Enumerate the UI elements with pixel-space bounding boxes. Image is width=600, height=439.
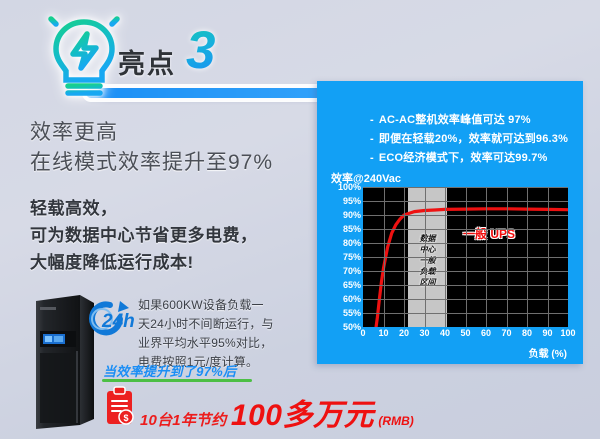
x-tick-label: 60 [481, 328, 491, 338]
efficiency-gain-caption: 当效率提升到了97%后 [103, 361, 236, 380]
x-tick-label: 10 [378, 328, 388, 338]
y-tick-label: 65% [343, 280, 361, 290]
grid-line-horizontal [363, 187, 568, 188]
chart-x-axis-title: 负载 (%) [529, 345, 567, 360]
highlight-number: 3 [186, 24, 215, 77]
savings-amount: 100多万元 [231, 399, 374, 432]
body-copy: 轻载高效， 可为数据中心节省更多电费， 大幅度降低运行成本! [30, 195, 320, 276]
chart-y-tick-labels: 50%55%60%65%70%75%80%85%90%95%100% [331, 187, 361, 327]
x-tick-label: 30 [419, 328, 429, 338]
caption-underline [102, 379, 252, 382]
y-tick-label: 55% [343, 308, 361, 318]
x-tick-label: 90 [542, 328, 552, 338]
x-tick-label: 40 [440, 328, 450, 338]
lead-line-1: 效率更高 [30, 118, 310, 148]
note-line: 如果600KW设备负载一 [138, 296, 313, 315]
bullet-item: AC-AC整机效率峰值可达 97% [370, 111, 600, 130]
poster-canvas: 亮点 3 效率更高 在线模式效率提升至97% 轻载高效， 可为数据中心节省更多电… [0, 0, 600, 439]
y-tick-label: 85% [343, 224, 361, 234]
body-copy-line: 可为数据中心节省更多电费， [30, 222, 320, 249]
savings-currency: (RMB) [378, 414, 413, 428]
y-tick-label: 60% [343, 294, 361, 304]
grid-line-horizontal [363, 201, 568, 202]
highlight-label: 亮点 [118, 42, 176, 81]
y-tick-label: 80% [343, 238, 361, 248]
24h-clock-icon: 24h [80, 297, 136, 341]
grid-line-horizontal [363, 299, 568, 300]
bullet-item: 即便在轻载20%，效率就可达到96.3% [370, 130, 600, 149]
efficiency-chart: 50%55%60%65%70%75%80%85%90%95%100% 数据中心一… [331, 187, 571, 335]
body-copy-line: 大幅度降低运行成本! [30, 249, 320, 276]
savings-prefix: 10台1年节约 [140, 412, 226, 429]
savings-statement: 10台1年节约 100多万元 (RMB) [140, 390, 414, 434]
y-tick-label: 90% [343, 210, 361, 220]
chart-x-tick-labels: 0102030405060708090100 [363, 328, 568, 342]
y-tick-label: 75% [343, 252, 361, 262]
bullet-list: AC-AC整机效率峰值可达 97% 即便在轻载20%，效率就可达到96.3% E… [330, 111, 600, 168]
grid-line-horizontal [363, 271, 568, 272]
note-line: 天24小时不间断运行，与 [138, 315, 313, 334]
x-tick-label: 0 [360, 328, 365, 338]
y-tick-label: 70% [343, 266, 361, 276]
x-tick-label: 50 [460, 328, 470, 338]
grid-line-horizontal [363, 257, 568, 258]
body-copy-line: 轻载高效， [30, 195, 320, 222]
lead-heading: 效率更高 在线模式效率提升至97% [30, 118, 310, 178]
grid-line-horizontal [363, 243, 568, 244]
x-tick-label: 80 [522, 328, 532, 338]
chart-plot-area: 数据中心一般负载区间 一般 UPS [363, 187, 568, 327]
grid-line-horizontal [363, 313, 568, 314]
y-tick-label: 100% [338, 182, 361, 192]
note-line: 业界平均水平95%对比， [138, 334, 313, 353]
svg-text:$: $ [123, 413, 128, 423]
bullet-item: ECO经济模式下，效率可达99.7% [370, 149, 600, 168]
chart-panel: AC-AC整机效率峰值可达 97% 即便在轻载20%，效率就可达到96.3% E… [317, 81, 583, 364]
grid-line-horizontal [363, 285, 568, 286]
svg-text:24h: 24h [101, 311, 135, 332]
x-tick-label: 20 [399, 328, 409, 338]
y-tick-label: 50% [343, 322, 361, 332]
grid-line-horizontal [363, 215, 568, 216]
x-tick-label: 70 [501, 328, 511, 338]
x-tick-label: 100 [560, 328, 575, 338]
clipboard-money-icon: $ [104, 386, 138, 430]
lead-line-2: 在线模式效率提升至97% [30, 148, 310, 178]
y-tick-label: 95% [343, 196, 361, 206]
grid-line-horizontal [363, 229, 568, 230]
